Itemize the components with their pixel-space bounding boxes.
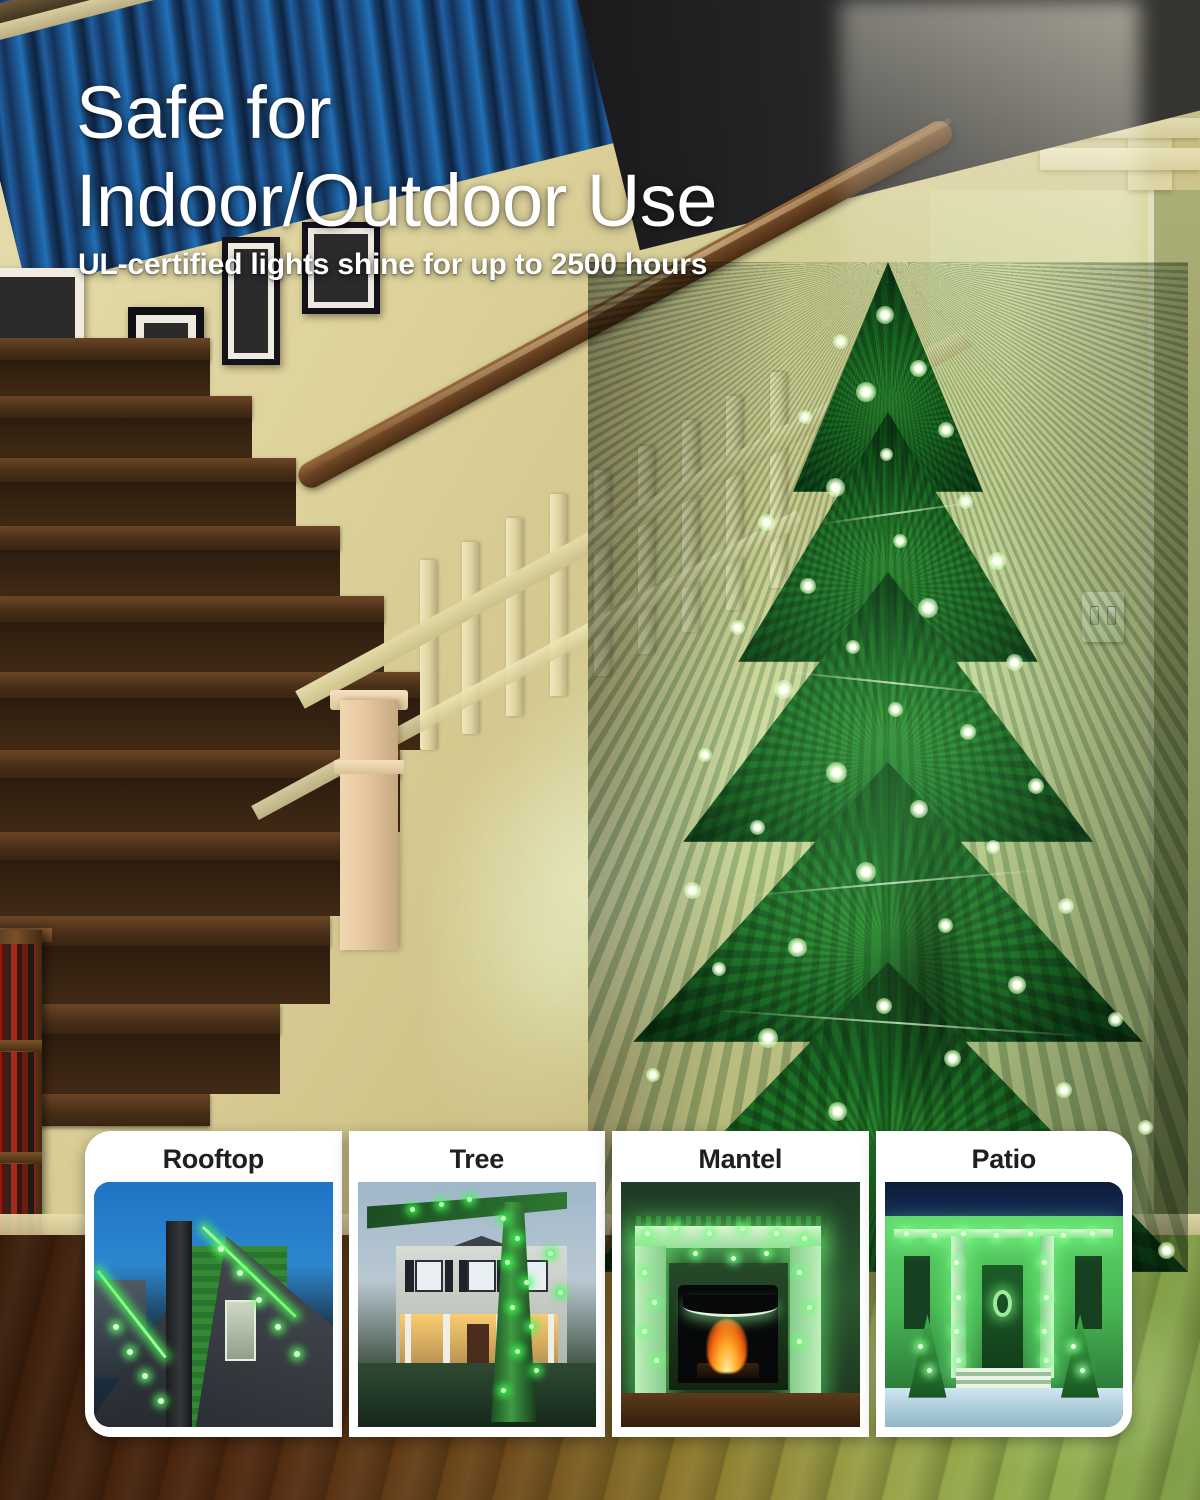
led-bulb — [1058, 898, 1074, 914]
led-bulb — [880, 448, 893, 461]
stair-riser — [0, 622, 384, 672]
led-bulb — [1056, 1082, 1072, 1098]
led-bulb — [826, 478, 845, 497]
tree-side-shading — [588, 262, 1188, 1272]
books-row-1 — [0, 944, 36, 1040]
usage-card-rooftop[interactable]: Rooftop — [85, 1131, 342, 1437]
led-bulb — [798, 410, 812, 424]
stair-riser — [0, 946, 330, 1004]
led-bulb — [800, 578, 816, 594]
stair-riser — [0, 1034, 280, 1094]
christmas-tree — [588, 262, 1188, 1272]
led-bulb — [1008, 976, 1026, 994]
stair-tread — [0, 338, 210, 360]
bookshelf-board — [0, 1040, 42, 1051]
usage-card-image-mantel — [621, 1182, 860, 1427]
stair-riser — [0, 360, 210, 396]
stair-riser — [0, 550, 340, 596]
stair-tread — [0, 596, 384, 622]
stair-tread — [0, 458, 296, 482]
stair-tread — [0, 1004, 280, 1034]
headline-line-1: Safe for — [76, 71, 331, 154]
usage-card-tree[interactable]: Tree — [349, 1131, 606, 1437]
led-bulb — [698, 748, 712, 762]
led-bulb — [960, 724, 976, 740]
headline-line-2: Indoor/Outdoor Use — [76, 164, 1036, 238]
led-bulb — [758, 514, 775, 531]
led-bulb — [910, 360, 927, 377]
led-bulb — [876, 306, 894, 324]
subheadline: UL-certified lights shine for up to 2500… — [78, 248, 998, 282]
books-row-2 — [0, 1052, 36, 1152]
usage-card-label: Rooftop — [163, 1140, 264, 1182]
led-bulb — [938, 422, 954, 438]
led-bulb — [888, 702, 903, 717]
usage-card-patio[interactable]: Patio — [876, 1131, 1133, 1437]
led-bulb — [856, 862, 876, 882]
led-bulb — [1006, 654, 1023, 671]
stair-tread — [0, 526, 340, 550]
led-bulb — [988, 552, 1006, 570]
led-bulb — [828, 1102, 847, 1121]
led-bulb — [958, 494, 973, 509]
led-bulb — [684, 882, 701, 899]
usage-card-label: Patio — [971, 1140, 1036, 1182]
led-bulb — [1028, 778, 1044, 794]
usage-card-strip: Rooftop — [85, 1131, 1132, 1437]
led-bulb — [1138, 1120, 1153, 1135]
led-bulb — [774, 680, 793, 699]
led-bulb — [846, 640, 860, 654]
led-bulb — [788, 938, 807, 957]
led-bulb — [986, 840, 1000, 854]
stair-tread — [0, 396, 252, 418]
stair-riser — [0, 860, 370, 916]
stair-tread — [0, 832, 370, 860]
bookshelf-board — [0, 1152, 42, 1163]
marketing-image: Safe for Indoor/Outdoor Use UL-certified… — [0, 0, 1200, 1500]
stair-riser — [0, 418, 252, 458]
led-bulb — [876, 998, 892, 1014]
led-bulb — [1108, 1012, 1123, 1027]
led-bulb — [646, 1068, 660, 1082]
stair-riser — [0, 482, 296, 526]
led-bulb — [893, 534, 907, 548]
led-bulb — [938, 918, 953, 933]
led-bulb — [758, 1028, 778, 1048]
led-bulb — [826, 762, 847, 783]
usage-card-image-tree — [358, 1182, 597, 1427]
headline: Safe for Indoor/Outdoor Use — [76, 76, 1036, 238]
led-bulb — [833, 334, 848, 349]
led-bulb — [750, 820, 765, 835]
usage-card-image-rooftop — [94, 1182, 333, 1427]
led-bulb — [712, 962, 726, 976]
led-bulb — [918, 598, 938, 618]
led-bulb — [1158, 1242, 1175, 1259]
usage-card-image-patio — [885, 1182, 1124, 1427]
usage-card-label: Tree — [450, 1140, 504, 1182]
led-bulb — [856, 382, 876, 402]
led-bulb — [730, 620, 745, 635]
led-bulb — [910, 800, 928, 818]
led-bulb — [944, 1050, 961, 1067]
usage-card-label: Mantel — [698, 1140, 782, 1182]
usage-card-mantel[interactable]: Mantel — [612, 1131, 869, 1437]
